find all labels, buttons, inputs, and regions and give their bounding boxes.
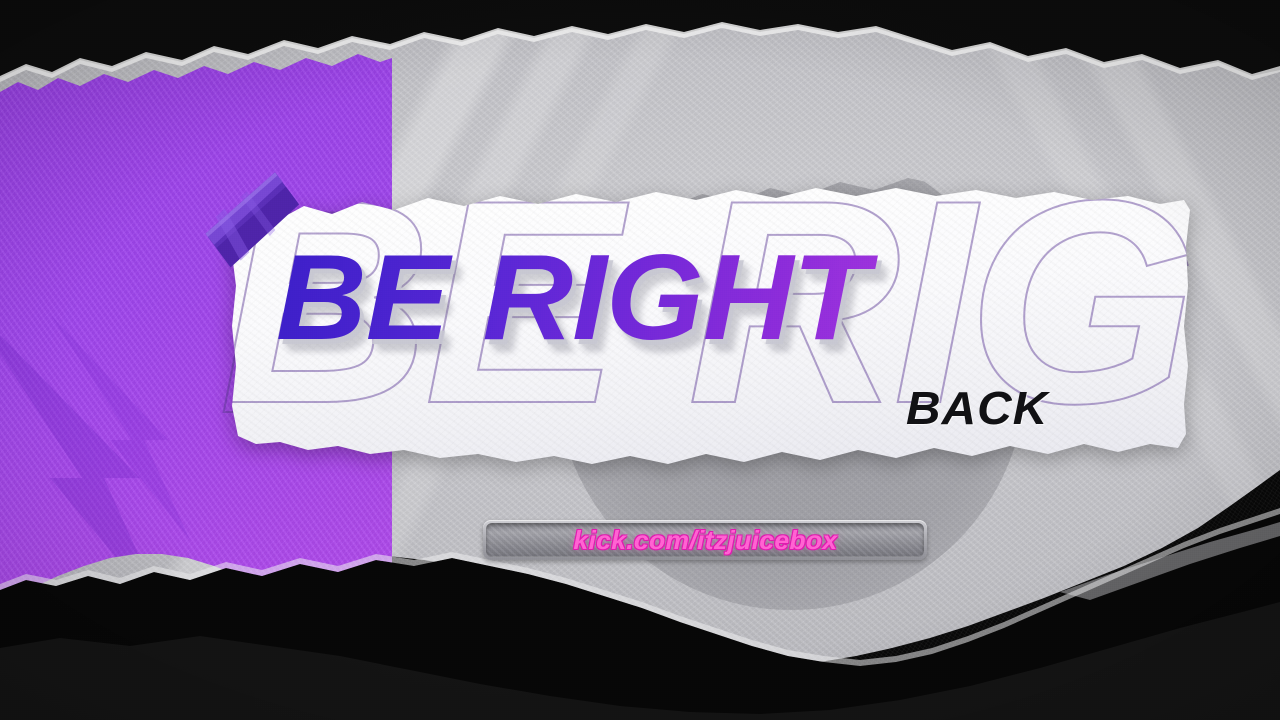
stream-url-bar-inner: kick.com/itzjuicebox [486,523,924,557]
stream-url-bar[interactable]: kick.com/itzjuicebox [483,520,927,560]
brb-overlay-stage: BE RIG BE RIG BE RIGHT BACK [0,0,1280,720]
stream-url-text: kick.com/itzjuicebox [573,525,837,556]
lightning-bolt-icon [0,290,224,620]
headline-sub-text: BACK [906,381,1048,435]
